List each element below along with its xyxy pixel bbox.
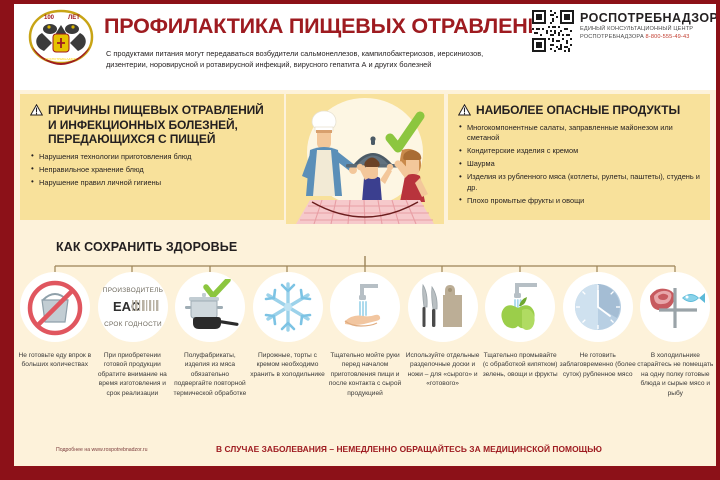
dangerous-products-title: НАИБОЛЕЕ ОПАСНЫЕ ПРОДУКТЫ — [476, 103, 680, 118]
pot-pan-cook-icon — [180, 279, 240, 335]
svg-text:РОСПОТРЕБНАДЗОР: РОСПОТРЕБНАДЗОР — [45, 57, 76, 61]
poster-subtitle: С продуктами питания могут передаваться … — [106, 48, 526, 70]
causes-title-line-3: ПЕРЕДАЮЩИХСЯ С ПИЩЕЙ — [48, 132, 264, 147]
dangerous-products-list: Многокомпонентные салаты, заправленные м… — [458, 123, 700, 207]
tip-caption-3: Полуфабрикаты, изделия из мяса обязатель… — [171, 351, 249, 398]
causes-panel: ПРИЧИНЫ ПИЩЕВЫХ ОТРАВЛЕНИЙ И ИНФЕКЦИОННЫ… — [20, 94, 284, 220]
tip-caption-2: При приобретении готовой продукции обрат… — [94, 351, 172, 398]
tip-icon-6 — [408, 272, 478, 342]
agency-phone[interactable]: 8-800-555-49-43 — [646, 34, 690, 40]
warning-triangle-icon — [458, 104, 471, 116]
meat-fish-separate-icon — [645, 280, 705, 334]
list-item: Кондитерские изделия с кремом — [458, 146, 700, 157]
tip-caption-5: Тщательно мойте руки перед началом приго… — [326, 351, 404, 398]
tip-icon-5 — [330, 272, 400, 342]
middle-section: ПРИЧИНЫ ПИЩЕВЫХ ОТРАВЛЕНИЙ И ИНФЕКЦИОННЫ… — [14, 94, 716, 228]
agency-subtitle-1: ЕДИНЫЙ КОНСУЛЬТАЦИОННЫЙ ЦЕНТР — [580, 25, 716, 33]
knives-cutting-board-icon — [414, 279, 472, 335]
family-illustration — [286, 94, 444, 224]
tip-icon-7 — [485, 272, 555, 342]
poster-canvas: 100 ЛЕТ РОСПОТРЕБНАДЗОР ПРОФИЛАКТИКА ПИЩ… — [14, 4, 716, 466]
causes-list: Нарушения технологии приготовления блюд … — [30, 152, 274, 189]
tips-icon-row: ПРОИЗВОДИТЕЛЬ EAC СРОК ГОДНОСТИ — [14, 272, 716, 356]
svg-text:100: 100 — [44, 15, 55, 21]
dangerous-products-header: НАИБОЛЕЕ ОПАСНЫЕ ПРОДУКТЫ — [458, 103, 700, 118]
tip-caption-6: Используйте отдельные разделочные доски … — [404, 351, 482, 398]
svg-text:СРОК ГОДНОСТИ: СРОК ГОДНОСТИ — [104, 321, 162, 328]
agency-subtitle-2: РОСПОТРЕБНАДЗОРА 8-800-555-49-43 — [580, 33, 716, 41]
tip-caption-4: Пирожные, торты с кремом необходимо хран… — [249, 351, 327, 398]
poster-title: ПРОФИЛАКТИКА ПИЩЕВЫХ ОТРАВЛЕНИЙ — [104, 14, 558, 39]
agency-block: РОСПОТРЕБНАДЗОР ЕДИНЫЙ КОНСУЛЬТАЦИОННЫЙ … — [532, 10, 716, 52]
wash-hands-icon — [337, 279, 393, 335]
agency-subtitle-2-text: РОСПОТРЕБНАДЗОРА — [580, 34, 644, 40]
causes-panel-header: ПРИЧИНЫ ПИЩЕВЫХ ОТРАВЛЕНИЙ И ИНФЕКЦИОННЫ… — [30, 103, 274, 147]
rospotrebnadzor-emblem-icon: 100 ЛЕТ РОСПОТРЕБНАДЗОР — [22, 7, 100, 69]
causes-title-line-2: И ИНФЕКЦИОННЫХ БОЛЕЗНЕЙ, — [48, 118, 264, 133]
qr-code-icon[interactable] — [532, 10, 574, 52]
agency-name: РОСПОТРЕБНАДЗОР — [580, 12, 716, 25]
agency-text: РОСПОТРЕБНАДЗОР ЕДИНЫЙ КОНСУЛЬТАЦИОННЫЙ … — [580, 10, 716, 41]
list-item: Изделия из рубленного мяса (котлеты, рул… — [458, 172, 700, 193]
tip-caption-9: В холодильнике старайтесь не помещать на… — [637, 351, 715, 398]
dangerous-products-panel: НАИБОЛЕЕ ОПАСНЫЕ ПРОДУКТЫ Многокомпонент… — [448, 94, 710, 220]
product-label-icon: ПРОИЗВОДИТЕЛЬ EAC СРОК ГОДНОСТИ — [102, 278, 164, 336]
list-item: Шаурма — [458, 159, 700, 170]
poster-footer: Подробнее на www.rospotrebnadzor.ru В СЛ… — [14, 440, 716, 466]
causes-panel-title: ПРИЧИНЫ ПИЩЕВЫХ ОТРАВЛЕНИЙ И ИНФЕКЦИОННЫ… — [48, 103, 264, 147]
snowflake-icon — [261, 280, 315, 334]
list-item: Многокомпонентные салаты, заправленные м… — [458, 123, 700, 144]
subtitle-line-2: дизентерии, норовирусной и ротавирусной … — [106, 59, 526, 70]
poster-frame: 100 ЛЕТ РОСПОТРЕБНАДЗОР ПРОФИЛАКТИКА ПИЩ… — [0, 0, 720, 480]
tips-caption-row: Не готовьте еду впрок в больших количест… — [14, 351, 716, 398]
wash-produce-icon — [491, 279, 549, 335]
tip-caption-8: Не готовить заблаговременно (более суток… — [559, 351, 637, 398]
list-item: Плохо промытые фрукты и овощи — [458, 196, 700, 207]
no-large-pot-icon — [26, 278, 84, 336]
footer-website-link[interactable]: Подробнее на www.rospotrebnadzor.ru — [56, 447, 147, 453]
tip-icon-2: ПРОИЗВОДИТЕЛЬ EAC СРОК ГОДНОСТИ — [98, 272, 168, 342]
clock-icon — [571, 280, 625, 334]
family-chef-scene-icon — [286, 94, 444, 224]
causes-title-line-1: ПРИЧИНЫ ПИЩЕВЫХ ОТРАВЛЕНИЙ — [48, 103, 264, 118]
tip-icon-9 — [640, 272, 710, 342]
tip-icon-8 — [563, 272, 633, 342]
list-item: Неправильное хранение блюд — [30, 165, 274, 176]
list-item: Нарушение правил личной гигиены — [30, 178, 274, 189]
tip-icon-1 — [20, 272, 90, 342]
tip-caption-7: Тщательно промывайте (с обработкой кипят… — [481, 351, 559, 398]
footer-emergency-message: В СЛУЧАЕ ЗАБОЛЕВАНИЯ – НЕМЕДЛЕННО ОБРАЩА… — [216, 444, 602, 454]
tip-icon-3 — [175, 272, 245, 342]
warning-triangle-icon — [30, 104, 43, 116]
poster-header: 100 ЛЕТ РОСПОТРЕБНАДЗОР ПРОФИЛАКТИКА ПИЩ… — [14, 4, 716, 90]
tip-icon-4 — [253, 272, 323, 342]
tip-caption-1: Не готовьте еду впрок в больших количест… — [16, 351, 94, 398]
svg-text:ПРОИЗВОДИТЕЛЬ: ПРОИЗВОДИТЕЛЬ — [102, 287, 162, 294]
subtitle-line-1: С продуктами питания могут передаваться … — [106, 48, 526, 59]
list-item: Нарушения технологии приготовления блюд — [30, 152, 274, 163]
howto-section-title: КАК СОХРАНИТЬ ЗДОРОВЬЕ — [56, 240, 237, 254]
svg-text:ЛЕТ: ЛЕТ — [68, 15, 80, 21]
